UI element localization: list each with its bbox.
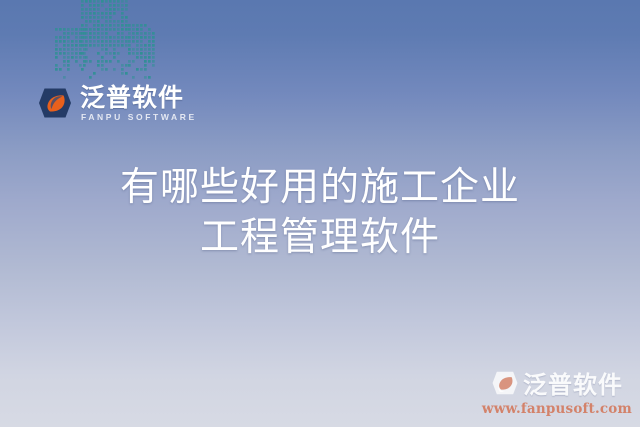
page-title-line-1: 有哪些好用的施工企业 bbox=[0, 163, 640, 213]
watermark: 泛普软件 www.fanpusoft.com bbox=[482, 365, 632, 417]
fanpu-watermark-mark-icon bbox=[491, 369, 519, 397]
pixel-mosaic-decoration bbox=[55, 0, 155, 88]
brand-logo: 泛普软件 FANPU SOFTWARE bbox=[37, 85, 197, 122]
page-title: 有哪些好用的施工企业 工程管理软件 bbox=[0, 163, 640, 263]
brand-name-en: FANPU SOFTWARE bbox=[81, 113, 197, 122]
brand-name-cn: 泛普软件 bbox=[80, 85, 197, 110]
page-title-line-2: 工程管理软件 bbox=[0, 213, 640, 263]
watermark-logo-row: 泛普软件 bbox=[491, 365, 623, 400]
fanpu-logo-mark-icon bbox=[37, 85, 73, 121]
brand-wordmark: 泛普软件 FANPU SOFTWARE bbox=[80, 85, 197, 122]
watermark-url: www.fanpusoft.com bbox=[482, 401, 632, 417]
article-cover-banner: 泛普软件 FANPU SOFTWARE 有哪些好用的施工企业 工程管理软件 泛普… bbox=[0, 0, 640, 427]
watermark-brand-name: 泛普软件 bbox=[523, 365, 623, 400]
